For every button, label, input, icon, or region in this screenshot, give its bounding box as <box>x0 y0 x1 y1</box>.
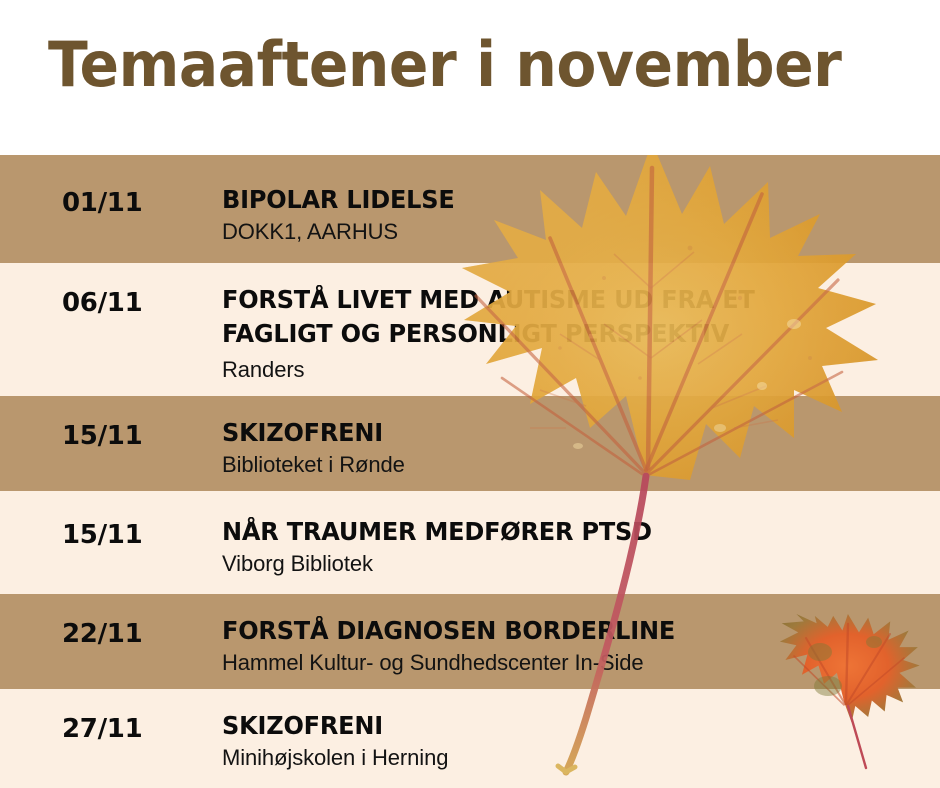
schedule-row[interactable]: 06/11 FORSTÅ LIVET MED AUTISME UD FRA ET… <box>0 263 940 396</box>
event-venue: Hammel Kultur- og Sundhedscenter In-Side <box>222 648 932 678</box>
event-date: 27/11 <box>62 714 142 744</box>
schedule-row[interactable]: 01/11 BIPOLAR LIDELSE DOKK1, AARHUS <box>0 155 940 263</box>
event-date: 22/11 <box>62 619 142 649</box>
event-title-line1: FORSTÅ LIVET MED AUTISME UD FRA ET <box>222 283 904 317</box>
event-venue: Randers <box>222 355 932 385</box>
poster: 01/11 BIPOLAR LIDELSE DOKK1, AARHUS 06/1… <box>0 0 940 788</box>
event-venue: Viborg Bibliotek <box>222 549 932 579</box>
event-date: 15/11 <box>62 520 142 550</box>
event-title: SKIZOFRENI <box>222 416 904 450</box>
event-title-line2: FAGLIGT OG PERSONLIGT PERSPEKTIV <box>222 317 904 351</box>
schedule-row[interactable]: 15/11 NÅR TRAUMER MEDFØRER PTSD Viborg B… <box>0 491 940 594</box>
event-date: 15/11 <box>62 421 142 451</box>
event-venue: Biblioteket i Rønde <box>222 450 932 480</box>
event-title: FORSTÅ DIAGNOSEN BORDERLINE <box>222 614 904 648</box>
event-venue: DOKK1, AARHUS <box>222 217 932 247</box>
schedule-row[interactable]: 22/11 FORSTÅ DIAGNOSEN BORDERLINE Hammel… <box>0 594 940 689</box>
event-date: 06/11 <box>62 288 142 318</box>
event-title: SKIZOFRENI <box>222 709 904 743</box>
event-date: 01/11 <box>62 188 142 218</box>
event-title: BIPOLAR LIDELSE <box>222 183 904 217</box>
page-title: Temaaftener i november <box>48 26 841 104</box>
schedule-row[interactable]: 15/11 SKIZOFRENI Biblioteket i Rønde <box>0 396 940 491</box>
schedule-row[interactable]: 27/11 SKIZOFRENI Minihøjskolen i Herning <box>0 689 940 788</box>
poster-header: Temaaftener i november <box>0 0 940 155</box>
event-title: NÅR TRAUMER MEDFØRER PTSD <box>222 515 904 549</box>
event-venue: Minihøjskolen i Herning <box>222 743 932 773</box>
